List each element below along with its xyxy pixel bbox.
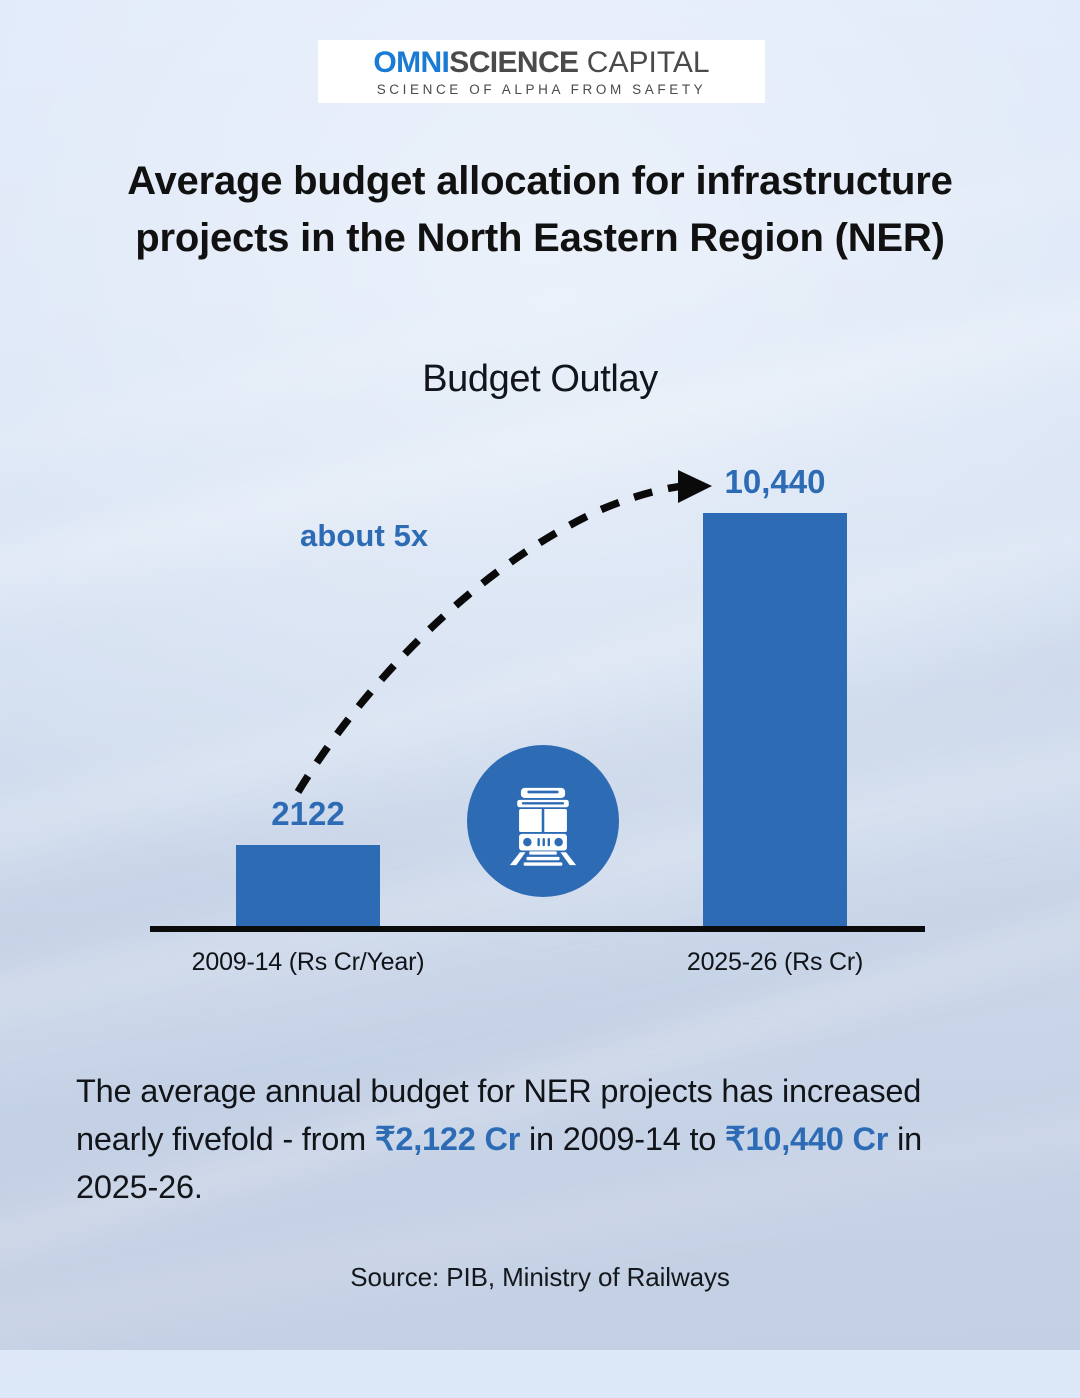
x-axis-tick-label: 2025-26 (Rs Cr) <box>625 948 925 977</box>
logo-capital-text: CAPITAL <box>578 46 709 79</box>
page-title: Average budget allocation for infrastruc… <box>50 153 1030 267</box>
brand-logo: OMNISCIENCE CAPITAL SCIENCE OF ALPHA FRO… <box>318 40 765 103</box>
source-credit: Source: PIB, Ministry of Railways <box>0 1262 1080 1293</box>
chart-title: Budget Outlay <box>0 358 1080 401</box>
x-axis-tick-label: 2009-14 (Rs Cr/Year) <box>158 948 458 977</box>
logo-omni-text: OMNI <box>373 46 449 79</box>
summary-highlight-2: ₹10,440 Cr <box>725 1121 888 1157</box>
summary-highlight-1: ₹2,122 Cr <box>375 1121 520 1157</box>
bar-value-label: 2122 <box>218 795 398 833</box>
summary-text: The average annual budget for NER projec… <box>76 1068 1006 1211</box>
bar-2025-26 <box>703 513 847 928</box>
bar-2009-14 <box>236 845 380 928</box>
logo-science-text: SCIENCE <box>449 46 578 79</box>
logo-tagline: SCIENCE OF ALPHA FROM SAFETY <box>377 83 707 97</box>
train-icon <box>467 745 619 897</box>
logo-wordmark: OMNISCIENCE CAPITAL <box>373 48 709 78</box>
bar-value-label: 10,440 <box>685 463 865 501</box>
growth-annotation-label: about 5x <box>300 518 560 554</box>
summary-part-2: in 2009-14 to <box>520 1121 725 1157</box>
x-axis-line <box>150 926 925 932</box>
bar-chart: Budget Outlay 2122 10,440 2009-14 (Rs Cr… <box>0 0 1080 1010</box>
